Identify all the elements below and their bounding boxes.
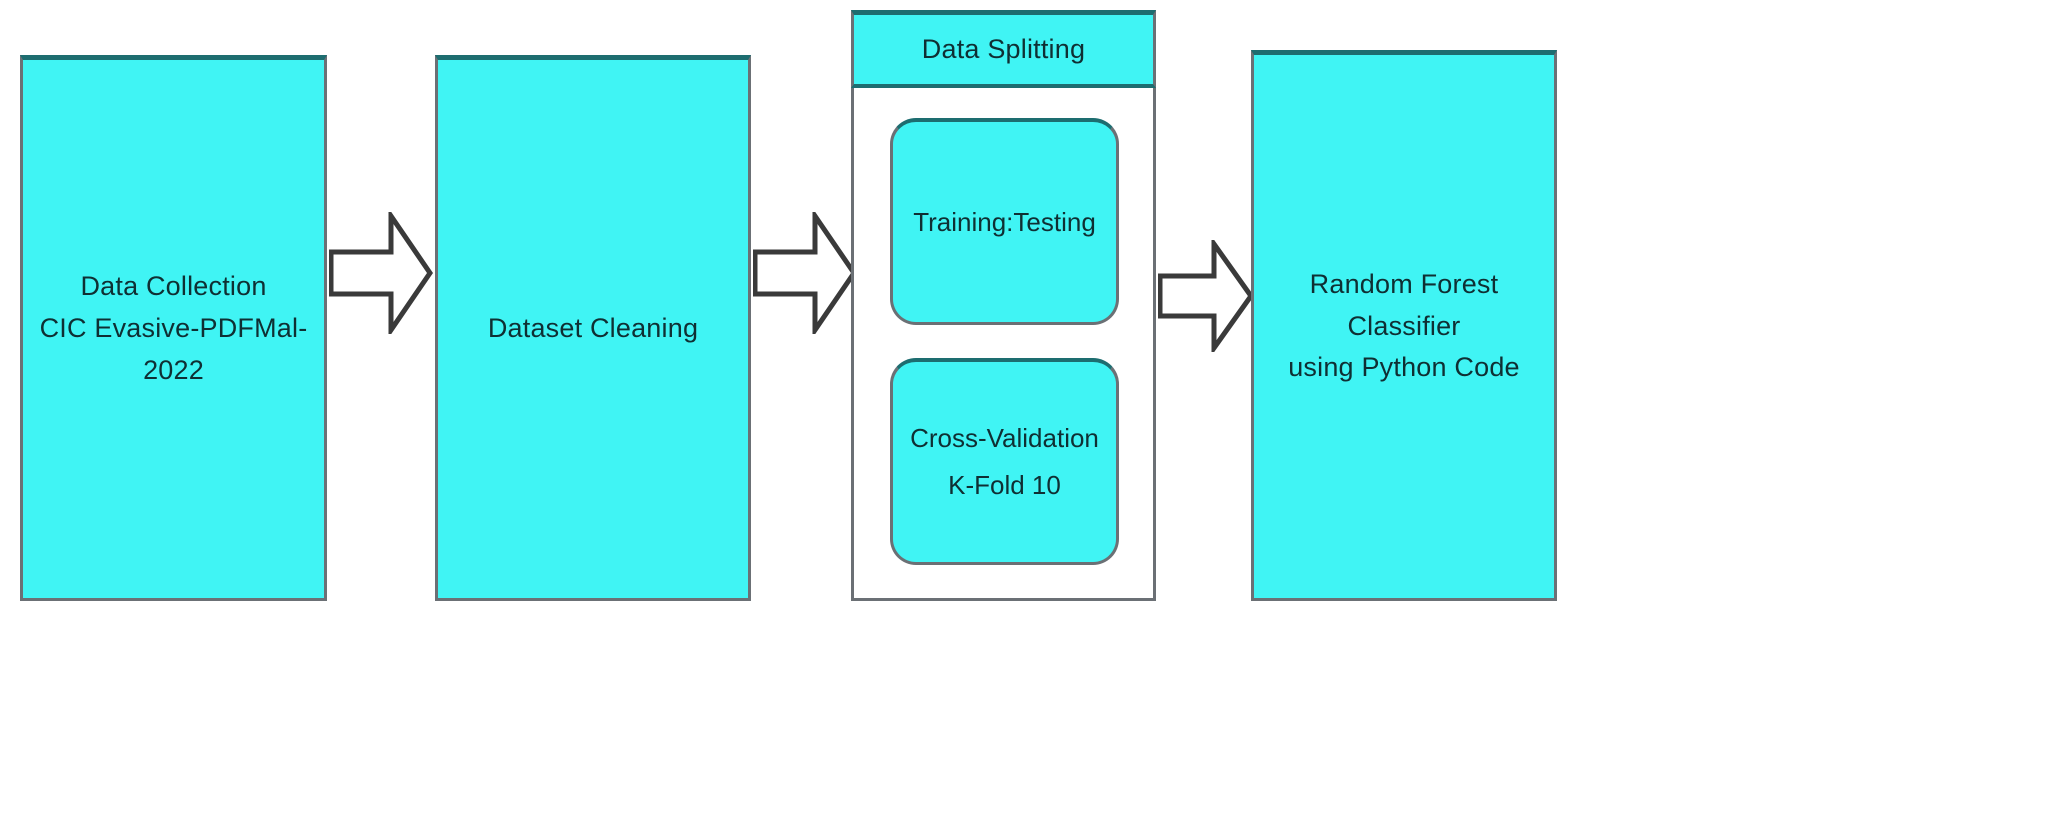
substage-cross-validation-label: Cross-Validation K-Fold 10 [902, 415, 1107, 509]
substage-training-testing-label: Training:Testing [905, 199, 1104, 246]
flowchart-canvas: Data Collection CIC Evasive-PDFMal-2022 … [0, 0, 2068, 818]
substage-cross-validation[interactable]: Cross-Validation K-Fold 10 [890, 358, 1119, 565]
substage-training-testing[interactable]: Training:Testing [890, 118, 1119, 325]
connector-arrow-3 [1158, 240, 1254, 352]
stage-data-collection[interactable]: Data Collection CIC Evasive-PDFMal-2022 [20, 55, 327, 601]
stage-data-splitting-label: Data Splitting [922, 34, 1085, 65]
stage-random-forest-classifier[interactable]: Random Forest Classifier using Python Co… [1251, 50, 1557, 601]
connector-arrow-1 [329, 212, 433, 334]
stage-data-collection-label: Data Collection CIC Evasive-PDFMal-2022 [23, 266, 324, 392]
stage-dataset-cleaning-label: Dataset Cleaning [478, 308, 708, 350]
stage-data-splitting-header[interactable]: Data Splitting [851, 10, 1156, 88]
stage-dataset-cleaning[interactable]: Dataset Cleaning [435, 55, 751, 601]
connector-arrow-2 [753, 212, 857, 334]
stage-random-forest-classifier-label: Random Forest Classifier using Python Co… [1254, 264, 1554, 390]
